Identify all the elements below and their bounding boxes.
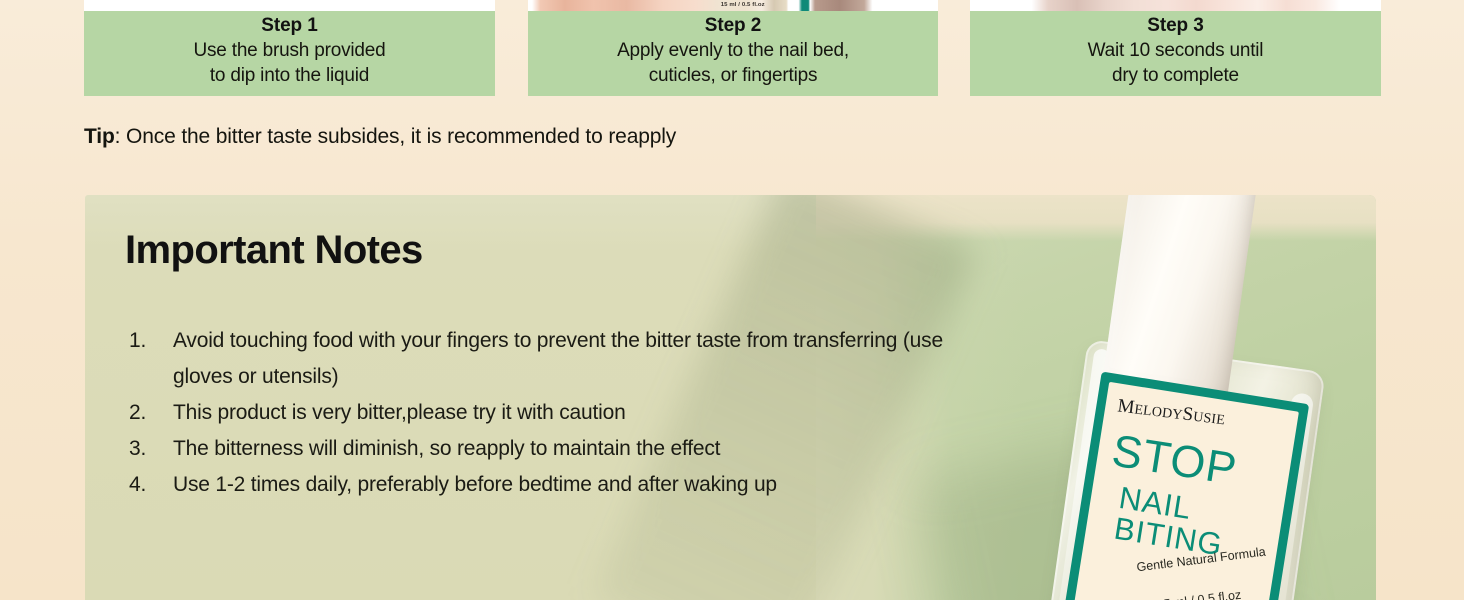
step-2-body: Step 2 Apply evenly to the nail bed, cut… <box>528 11 938 96</box>
note-item: 1. Avoid touching food with your fingers… <box>125 323 1005 395</box>
step-3-body: Step 3 Wait 10 seconds until dry to comp… <box>970 11 1381 96</box>
step-1-body: Step 1 Use the brush provided to dip int… <box>84 11 495 96</box>
note-number: 1. <box>125 323 173 359</box>
note-text: This product is very bitter,please try i… <box>173 395 1005 431</box>
step-1-line-1: Use the brush provided <box>193 38 385 63</box>
step-card-1: Step 1 Use the brush provided to dip int… <box>84 0 495 96</box>
step-3-line-1: Wait 10 seconds until <box>1088 38 1264 63</box>
notes-list: 1. Avoid touching food with your fingers… <box>125 323 1005 503</box>
step-card-3: Step 3 Wait 10 seconds until dry to comp… <box>970 0 1381 96</box>
step-3-description: Wait 10 seconds until dry to complete <box>1088 38 1264 88</box>
step-3-line-2: dry to complete <box>1088 63 1264 88</box>
step-2-title: Step 2 <box>705 14 761 38</box>
notes-title: Important Notes <box>125 228 423 273</box>
note-item: 3. The bitterness will diminish, so reap… <box>125 431 1005 467</box>
step-card-2: 15 ml / 0.5 fl.oz Step 2 Apply evenly to… <box>528 0 938 96</box>
step-1-photo <box>84 0 495 11</box>
step-2-photo: 15 ml / 0.5 fl.oz <box>528 0 938 11</box>
notes-content: Important Notes 1. Avoid touching food w… <box>85 195 1376 600</box>
tip-text: : Once the bitter taste subsides, it is … <box>115 125 676 148</box>
important-notes-panel: MELODYSUSIE STOP NAIL BITING Gentle Natu… <box>85 195 1376 600</box>
note-text: Use 1-2 times daily, preferably before b… <box>173 467 1005 503</box>
note-number: 4. <box>125 467 173 503</box>
step-2-photo-volume-label: 15 ml / 0.5 fl.oz <box>721 0 765 10</box>
tip-line: Tip: Once the bitter taste subsides, it … <box>84 121 676 153</box>
note-number: 3. <box>125 431 173 467</box>
step-1-description: Use the brush provided to dip into the l… <box>193 38 385 88</box>
step-2-line-1: Apply evenly to the nail bed, <box>617 38 849 63</box>
step-3-photo <box>970 0 1381 11</box>
step-3-title: Step 3 <box>1147 14 1203 38</box>
step-1-line-2: to dip into the liquid <box>193 63 385 88</box>
steps-row: Step 1 Use the brush provided to dip int… <box>0 0 1464 96</box>
note-item: 2. This product is very bitter,please tr… <box>125 395 1005 431</box>
step-1-title: Step 1 <box>261 14 317 38</box>
note-text: Avoid touching food with your fingers to… <box>173 323 1005 395</box>
note-item: 4. Use 1-2 times daily, preferably befor… <box>125 467 1005 503</box>
note-text: The bitterness will diminish, so reapply… <box>173 431 1005 467</box>
tip-label: Tip <box>84 125 115 148</box>
step-2-line-2: cuticles, or fingertips <box>617 63 849 88</box>
note-number: 2. <box>125 395 173 431</box>
step-2-description: Apply evenly to the nail bed, cuticles, … <box>617 38 849 88</box>
